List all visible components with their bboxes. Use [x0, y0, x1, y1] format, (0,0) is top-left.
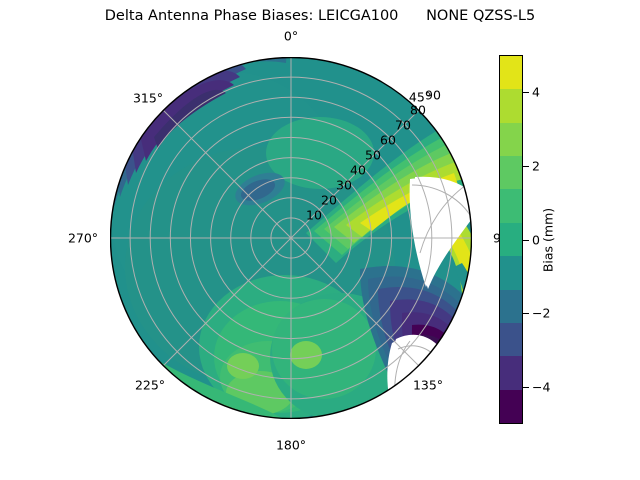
radial-label-30: 30	[336, 178, 352, 193]
angular-label-0: 0°	[284, 29, 298, 44]
colorbar-band-3	[500, 290, 522, 323]
figure-canvas: Delta Antenna Phase Biases: LEICGA100 NO…	[0, 0, 640, 480]
colorbar-gradient	[499, 55, 523, 424]
colorbar-band-0	[500, 390, 522, 423]
colorbar-tick-neg4	[523, 387, 529, 388]
colorbar-band-10	[500, 56, 522, 89]
radial-label-60: 60	[380, 133, 396, 148]
angular-label-270: 270°	[68, 231, 98, 246]
colorbar-band-7	[500, 156, 522, 189]
colorbar-ticklabel-neg4: −4	[532, 380, 550, 395]
radial-label-20: 20	[321, 193, 337, 208]
angular-label-315: 315°	[133, 91, 163, 106]
colorbar-band-8	[500, 123, 522, 156]
colorbar-ticklabel-4: 4	[532, 84, 540, 99]
radial-label-80: 80	[410, 103, 426, 118]
page-title: Delta Antenna Phase Biases: LEICGA100 NO…	[0, 8, 640, 24]
radial-label-10: 10	[306, 208, 322, 223]
colorbar-band-4	[500, 256, 522, 289]
colorbar-band-9	[500, 89, 522, 122]
polar-plot: 0° 45° 90 135° 180° 225° 270° 315° 10 20…	[110, 57, 472, 419]
radial-label-90: 90	[425, 88, 441, 103]
colorbar-ticklabel-2: 2	[532, 158, 540, 173]
colorbar-band-6	[500, 189, 522, 222]
colorbar-tick-2	[523, 166, 529, 167]
colorbar-ticklabel-0: 0	[532, 232, 540, 247]
colorbar-ticklabel-neg2: −2	[532, 306, 550, 321]
angular-label-180: 180°	[276, 438, 306, 453]
angular-label-135: 135°	[413, 378, 443, 393]
colorbar-tick-0	[523, 240, 529, 241]
colorbar: 4 2 0 −2 −4	[499, 55, 523, 424]
colorbar-band-5	[500, 223, 522, 256]
radial-label-70: 70	[395, 118, 411, 133]
radial-label-50: 50	[365, 148, 381, 163]
angular-label-225: 225°	[135, 378, 165, 393]
colorbar-tick-neg2	[523, 313, 529, 314]
radial-label-40: 40	[350, 163, 366, 178]
colorbar-band-1	[500, 356, 522, 389]
colorbar-tick-4	[523, 92, 529, 93]
colorbar-label: Bias (mm)	[541, 208, 556, 272]
colorbar-band-2	[500, 323, 522, 356]
